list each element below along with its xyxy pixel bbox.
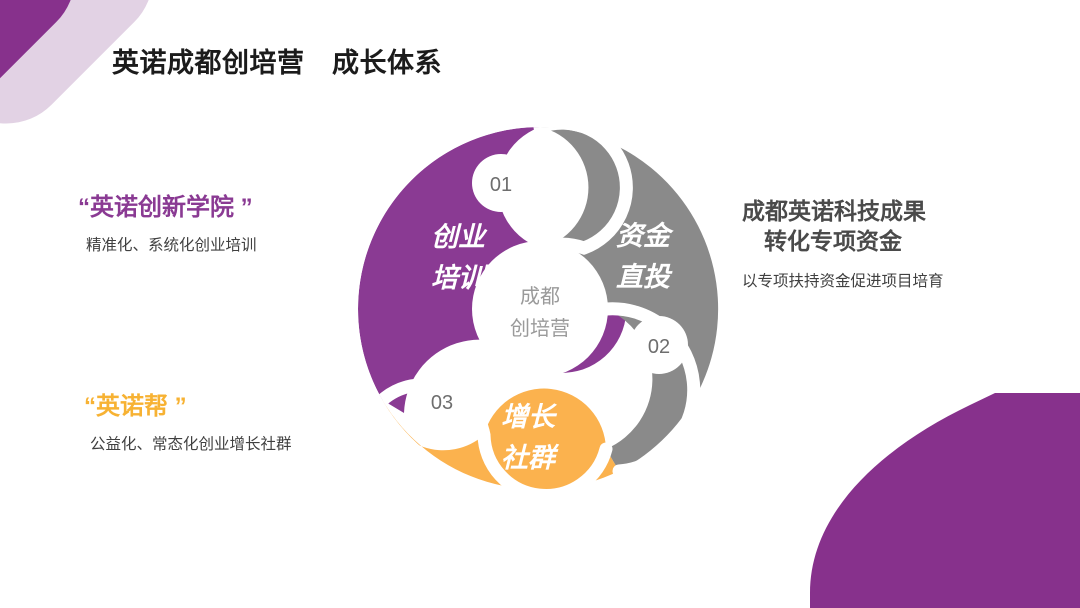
diagram-center-line1: 成都 xyxy=(520,285,560,308)
callout-academy: “英诺创新学院 ” 精准化、系统化创业培训 xyxy=(78,193,257,255)
callout-help: “英诺帮 ” 公益化、常态化创业增长社群 xyxy=(84,392,292,454)
callout-help-subtitle: 公益化、常态化创业增长社群 xyxy=(84,432,292,454)
badge-03[interactable]: 03 xyxy=(413,372,471,430)
badge-03-label: 03 xyxy=(431,392,453,414)
callout-fund-heading-line1: 成都英诺科技成果 xyxy=(742,198,926,224)
segment-03-label-line2: 社群 xyxy=(501,443,560,473)
badge-01[interactable]: 01 xyxy=(472,154,530,212)
page-title: 英诺成都创培营 成长体系 xyxy=(112,41,442,80)
badge-01-label: 01 xyxy=(490,174,512,196)
badge-02-label: 02 xyxy=(648,336,670,358)
growth-system-diagram: 成都 创培营 创业 培训 资金 直投 增长 社群 01 02 03 xyxy=(344,113,736,505)
callout-fund: 成都英诺科技成果转化专项资金 以专项扶持资金促进项目培育 xyxy=(742,196,944,291)
segment-01-label-line1: 创业 xyxy=(431,222,488,252)
segment-01-label-line2: 培训 xyxy=(431,263,490,293)
bottom-right-decoration xyxy=(810,393,1080,608)
callout-fund-subtitle: 以专项扶持资金促进项目培育 xyxy=(742,269,944,291)
badge-02[interactable]: 02 xyxy=(630,316,688,374)
segment-02-label-line2: 直投 xyxy=(616,262,673,292)
segment-02-label-line1: 资金 xyxy=(616,221,674,251)
callout-fund-heading: 成都英诺科技成果转化专项资金 xyxy=(742,196,944,257)
segment-03-label-line1: 增长 xyxy=(501,402,558,432)
callout-fund-heading-line2: 转化专项资金 xyxy=(742,226,944,256)
diagram-center-disc xyxy=(472,241,608,377)
callout-help-heading: “英诺帮 ” xyxy=(84,392,292,422)
corner-shape-purple xyxy=(0,0,102,130)
callout-academy-subtitle: 精准化、系统化创业培训 xyxy=(78,233,257,255)
callout-academy-heading: “英诺创新学院 ” xyxy=(78,193,257,223)
diagram-center-line2: 创培营 xyxy=(510,317,570,340)
